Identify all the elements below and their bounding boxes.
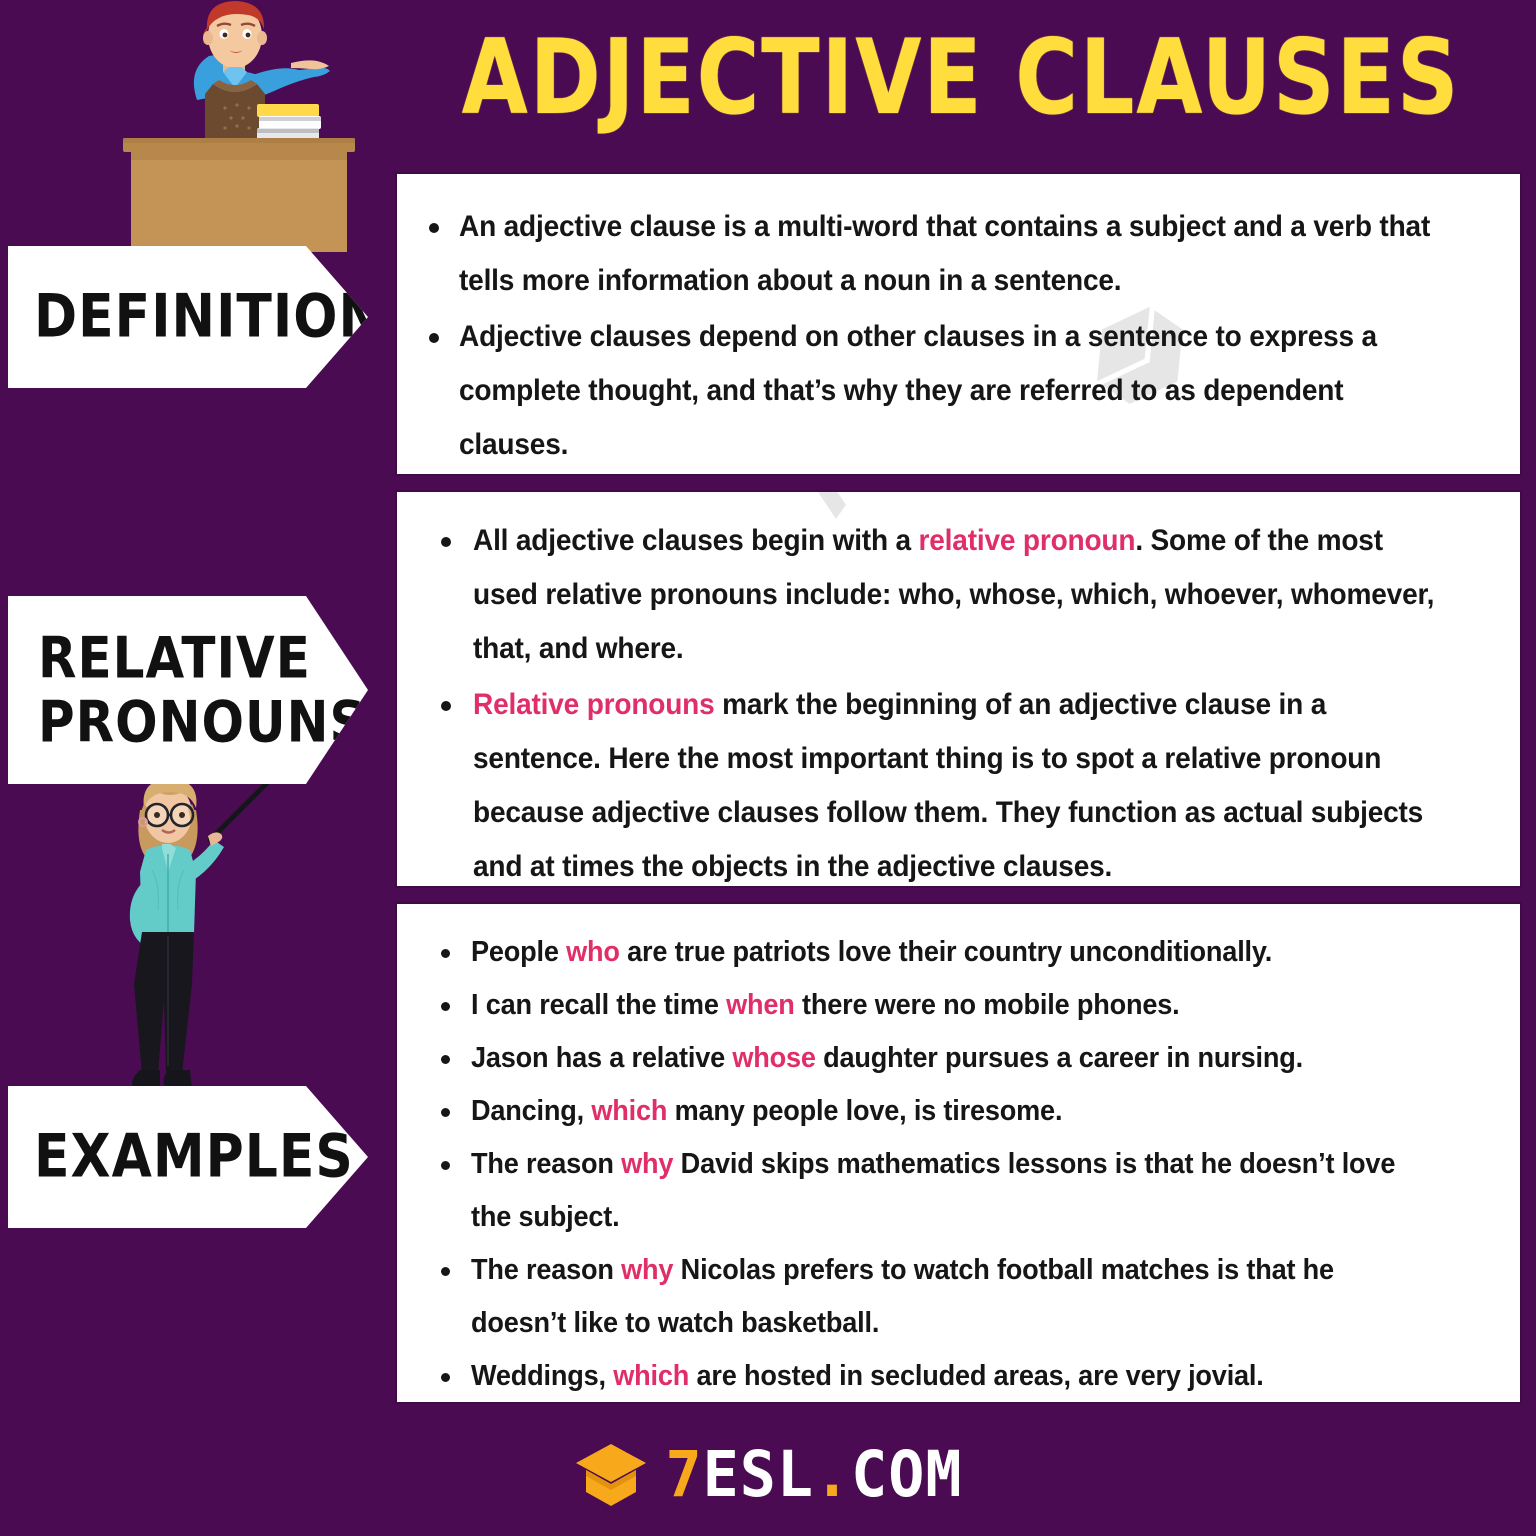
brand-wordmark: 7ESL.COM: [666, 1438, 963, 1512]
highlight-term: who: [566, 936, 620, 968]
banner-label-examples: EXAMPLES: [34, 1123, 354, 1191]
body-text: The reason: [471, 1148, 621, 1180]
body-text: Adjective clauses depend on other clause…: [459, 320, 1377, 461]
infographic-canvas: ADJECTIVE CLAUSES: [0, 0, 1536, 1536]
graduation-cap-icon: [574, 1440, 648, 1510]
relative-pronouns-panel: 7ESL.COM All adjective clauses begin wit…: [395, 490, 1522, 888]
list-item: The reason why David skips mathematics l…: [471, 1138, 1502, 1244]
list-item: I can recall the time when there were no…: [471, 979, 1502, 1032]
brand-com: COM: [851, 1438, 962, 1512]
highlight-term: relative pronoun: [919, 524, 1136, 557]
examples-panel: 7ESL People who are true patriots love t…: [395, 902, 1522, 1404]
highlight-term: when: [726, 989, 795, 1021]
list-item: Weddings, which are hosted in secluded a…: [471, 1350, 1502, 1403]
body-text: Jason has a relative: [471, 1042, 732, 1074]
highlight-term: whose: [732, 1042, 815, 1074]
list-item: Relative pronouns mark the beginning of …: [473, 678, 1512, 888]
page-title: ADJECTIVE CLAUSES: [439, 11, 1482, 143]
body-text: are true patriots love their country unc…: [620, 936, 1272, 968]
section-banner-definition[interactable]: DEFINITION: [8, 246, 368, 388]
definition-panel: An adjective clause is a multi-word that…: [395, 172, 1522, 476]
brand-dot: .: [814, 1438, 851, 1512]
list-item: Adjective clauses depend on other clause…: [459, 310, 1502, 472]
examples-bullet-list: People who are true patriots love their …: [397, 904, 1520, 1403]
list-item: All adjective clauses begin with a relat…: [473, 514, 1512, 676]
highlight-term: Relative pronouns: [473, 688, 715, 721]
brand-esl: ESL: [703, 1438, 814, 1512]
body-text: daughter pursues a career in nursing.: [816, 1042, 1303, 1074]
body-text: there were no mobile phones.: [795, 989, 1180, 1021]
section-banner-examples[interactable]: EXAMPLES: [8, 1086, 368, 1228]
body-text: I can recall the time: [471, 989, 726, 1021]
list-item: Jason has a relative whose daughter purs…: [471, 1032, 1502, 1085]
body-text: are hosted in secluded areas, are very j…: [689, 1360, 1263, 1392]
banner-label-relative-line2: PRONOUNS: [38, 690, 366, 754]
body-text: The reason: [471, 1254, 621, 1286]
highlight-term: why: [621, 1254, 673, 1286]
brand-seven: 7: [666, 1438, 703, 1512]
body-text: People: [471, 936, 566, 968]
relative-pronouns-bullet-list: All adjective clauses begin with a relat…: [397, 492, 1520, 888]
list-item: The reason why Nicolas prefers to watch …: [471, 1244, 1502, 1350]
banner-label-relative-line1: RELATIVE: [38, 626, 366, 690]
definition-bullet-list: An adjective clause is a multi-word that…: [397, 174, 1520, 472]
body-text: An adjective clause is a multi-word that…: [459, 210, 1430, 297]
teacher-male-illustration: [85, 0, 385, 252]
body-text: Dancing,: [471, 1095, 591, 1127]
teacher-female-illustration: [90, 770, 305, 1100]
highlight-term: which: [591, 1095, 667, 1127]
list-item: People who are true patriots love their …: [471, 926, 1502, 979]
list-item: Dancing, which many people love, is tire…: [471, 1085, 1502, 1138]
highlight-term: why: [621, 1148, 673, 1180]
list-item: An adjective clause is a multi-word that…: [459, 200, 1502, 308]
body-text: many people love, is tiresome.: [667, 1095, 1062, 1127]
section-banner-relative-pronouns[interactable]: RELATIVE PRONOUNS: [8, 596, 368, 784]
highlight-term: which: [613, 1360, 689, 1392]
body-text: All adjective clauses begin with a: [473, 524, 919, 557]
banner-label-definition: DEFINITION: [34, 283, 383, 351]
footer-logo[interactable]: 7ESL.COM: [0, 1420, 1536, 1530]
body-text: Weddings,: [471, 1360, 613, 1392]
